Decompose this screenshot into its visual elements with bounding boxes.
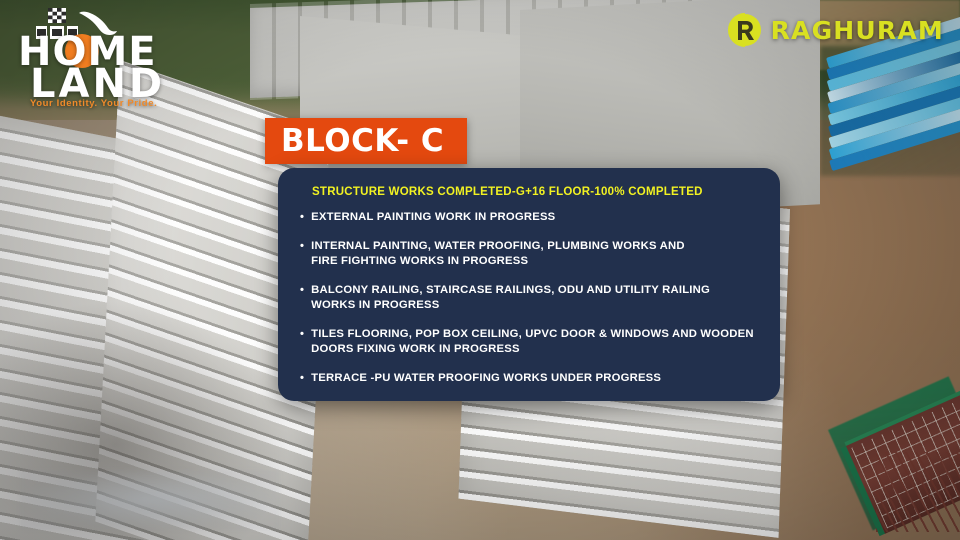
slide-canvas: HOME LAND Your Identity. Your Pride. RAG… (0, 0, 960, 540)
work-status-item: •BALCONY RAILING, STAIRCASE RAILINGS, OD… (300, 283, 764, 314)
homeland-logo: HOME LAND Your Identity. Your Pride. (16, 6, 196, 114)
block-label: BLOCK- C (265, 123, 444, 159)
bullet-dot-icon: • (300, 371, 304, 387)
developer-name: RAGHURAM (771, 16, 944, 45)
work-status-text: EXTERNAL PAINTING WORK IN PROGRESS (311, 210, 555, 226)
work-status-text: INTERNAL PAINTING, WATER PROOFING, PLUMB… (311, 239, 685, 270)
work-status-item: •EXTERNAL PAINTING WORK IN PROGRESS (300, 210, 764, 226)
bullet-dot-icon: • (300, 327, 304, 358)
work-status-list: •EXTERNAL PAINTING WORK IN PROGRESS•INTE… (294, 210, 764, 387)
work-status-item: •INTERNAL PAINTING, WATER PROOFING, PLUM… (300, 239, 764, 270)
work-status-text: BALCONY RAILING, STAIRCASE RAILINGS, ODU… (311, 283, 710, 314)
panel-heading: STRUCTURE WORKS COMPLETED-G+16 FLOOR-100… (312, 186, 764, 198)
bullet-dot-icon: • (300, 210, 304, 226)
work-status-text: TERRACE -PU WATER PROOFING WORKS UNDER P… (311, 371, 661, 387)
developer-logo: RAGHURAM (728, 12, 944, 48)
work-status-text: TILES FLOORING, POP BOX CEILING, UPVC DO… (311, 327, 754, 358)
work-status-item: •TILES FLOORING, POP BOX CEILING, UPVC D… (300, 327, 764, 358)
block-banner: BLOCK- C (265, 118, 467, 164)
circled-r-logo-icon (728, 13, 762, 47)
bullet-dot-icon: • (300, 239, 304, 270)
homeland-tagline: Your Identity. Your Pride. (30, 98, 157, 109)
status-panel: STRUCTURE WORKS COMPLETED-G+16 FLOOR-100… (278, 168, 780, 401)
bullet-dot-icon: • (300, 283, 304, 314)
work-status-item: •TERRACE -PU WATER PROOFING WORKS UNDER … (300, 371, 764, 387)
